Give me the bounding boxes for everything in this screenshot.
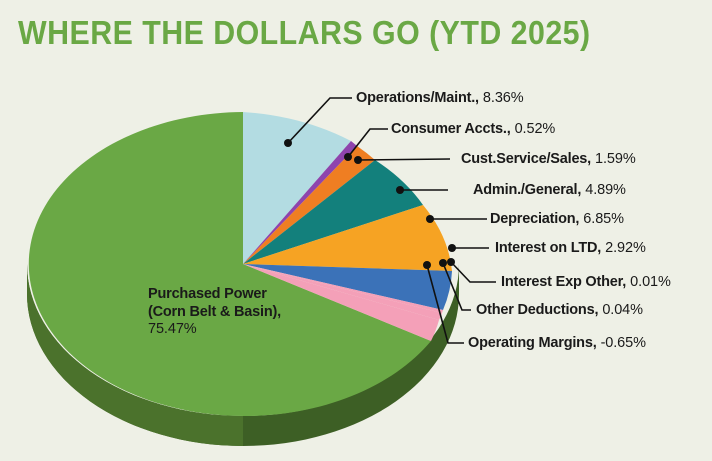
pie-chart-figure: WHERE THE DOLLARS GO (YTD 2025)	[0, 0, 712, 461]
callout-label-name: Interest on LTD,	[495, 240, 601, 256]
dot-interest-exp-other	[447, 258, 455, 266]
callout-depreciation: Depreciation, 6.85%	[490, 211, 624, 227]
dot-consumer-accts	[344, 153, 352, 161]
callout-label-value: 4.89%	[585, 182, 626, 198]
callout-label-value: 8.36%	[483, 90, 524, 106]
callout-label-value: 2.92%	[605, 240, 646, 256]
callout-label-name: Operations/Maint.,	[356, 90, 479, 106]
dot-interest-on-ltd	[448, 244, 456, 252]
callout-label-name: Consumer Accts.,	[391, 121, 511, 137]
callout-label-value: 0.04%	[602, 302, 643, 318]
callout-label-name: Cust.Service/Sales,	[461, 151, 591, 167]
inner-label-line3: 75.47%	[148, 321, 281, 339]
callout-label-value: 6.85%	[583, 211, 624, 227]
callout-interest-on-ltd: Interest on LTD, 2.92%	[495, 240, 646, 256]
callout-label-name: Other Deductions,	[476, 302, 598, 318]
callout-label-name: Operating Margins,	[468, 335, 597, 351]
dot-other-deductions	[439, 259, 447, 267]
callout-label-name: Admin./General,	[473, 182, 581, 198]
inner-label-line1: Purchased Power	[148, 286, 281, 304]
callout-label-value: 0.01%	[630, 274, 671, 290]
callout-label-value: -0.65%	[601, 335, 646, 351]
dot-depreciation	[426, 215, 434, 223]
callout-label-value: 1.59%	[595, 151, 636, 167]
callout-label-name: Interest Exp Other,	[501, 274, 626, 290]
callout-consumer-accts: Consumer Accts., 0.52%	[391, 121, 555, 137]
callout-cust-service-sales: Cust.Service/Sales, 1.59%	[461, 151, 636, 167]
dot-operating-margins	[423, 261, 431, 269]
dot-cust-service-sales	[354, 156, 362, 164]
callout-other-deductions: Other Deductions, 0.04%	[476, 302, 643, 318]
callout-operations-maint: Operations/Maint., 8.36%	[356, 90, 524, 106]
inner-slice-label-purchased-power: Purchased Power (Corn Belt & Basin), 75.…	[148, 286, 281, 339]
callout-interest-exp-other: Interest Exp Other, 0.01%	[501, 274, 671, 290]
pie-chart-graphic	[0, 0, 712, 461]
pie-slices	[29, 112, 452, 416]
callout-label-name: Depreciation,	[490, 211, 579, 227]
callout-admin-general: Admin./General, 4.89%	[473, 182, 626, 198]
dot-admin-general	[396, 186, 404, 194]
callout-label-value: 0.52%	[515, 121, 556, 137]
dot-operations-maint	[284, 139, 292, 147]
inner-label-line2: (Corn Belt & Basin),	[148, 304, 281, 322]
callout-operating-margins: Operating Margins, -0.65%	[468, 335, 646, 351]
